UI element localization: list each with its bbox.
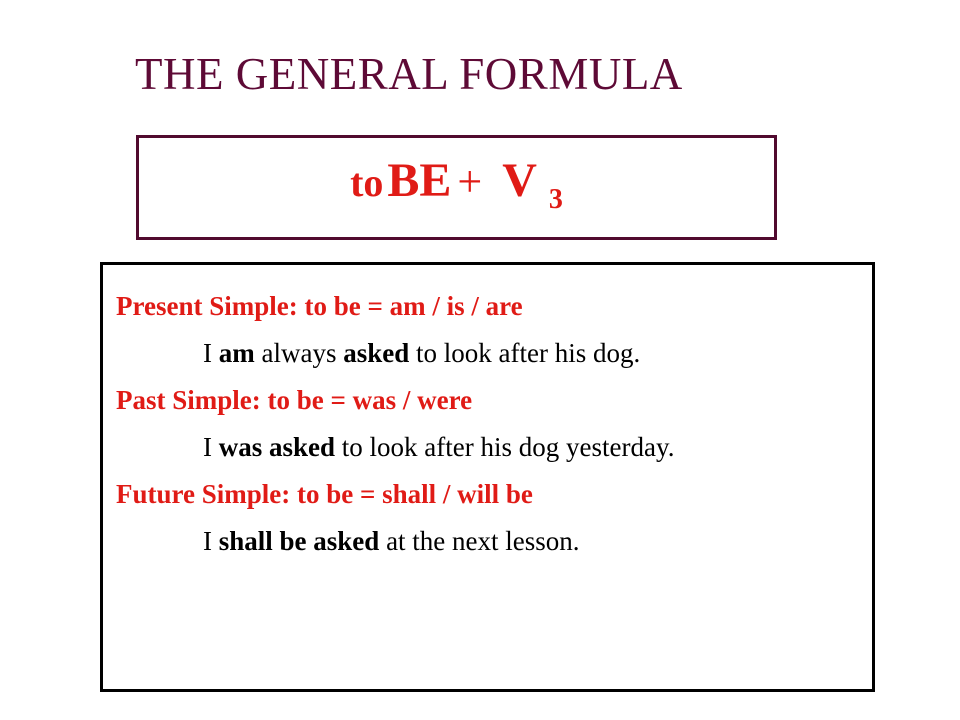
formula-box: to BE + V 3 [136,135,777,240]
tense-example-past: I was asked to look after his dog yester… [113,424,862,471]
tense-header-past: Past Simple: to be = was / were [113,377,862,424]
tense-example-future: I shall be asked at the next lesson. [113,518,862,565]
content-box: Present Simple: to be = am / is / are I … [100,262,875,692]
formula-subscript: 3 [541,184,563,215]
tense-example-present: I am always asked to look after his dog. [113,330,862,377]
tense-block-future: Future Simple: to be = shall / will be I… [113,471,862,565]
tense-block-present: Present Simple: to be = am / is / are I … [113,283,862,377]
formula-text: to BE + V 3 [350,157,563,214]
formula-be: BE [387,154,451,207]
formula-verb: V [488,154,537,207]
formula-to: to [350,160,383,205]
tense-block-past: Past Simple: to be = was / were I was as… [113,377,862,471]
page-title: THE GENERAL FORMULA [135,48,845,102]
slide-canvas: THE GENERAL FORMULA to BE + V 3 Present … [0,0,960,720]
tense-header-future: Future Simple: to be = shall / will be [113,471,862,518]
tense-header-present: Present Simple: to be = am / is / are [113,283,862,330]
formula-plus-sign: + [455,157,484,206]
